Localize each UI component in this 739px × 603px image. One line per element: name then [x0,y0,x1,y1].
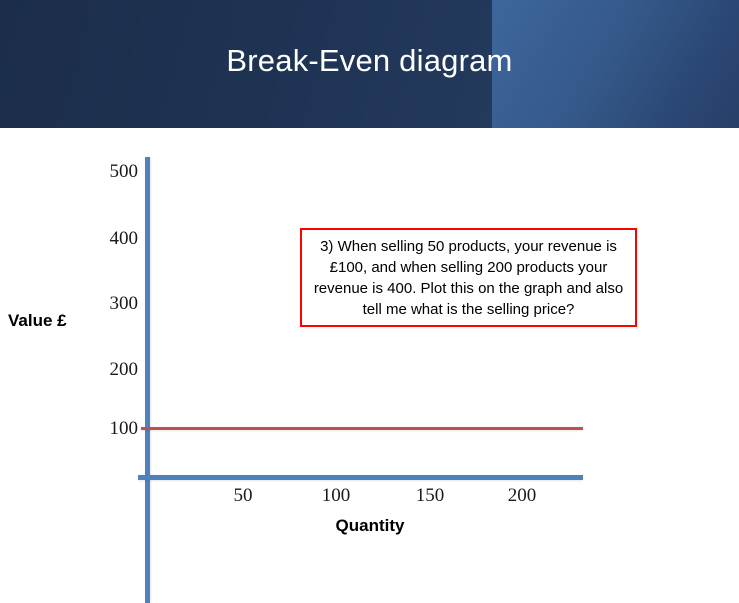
y-tick-label-500: 500 [82,161,138,183]
break-even-chart: 500 400 300 200 100 50 100 150 200 Value… [0,128,739,553]
y-tick-label-100: 100 [82,418,138,440]
x-tick-label-50: 50 [213,485,273,507]
y-axis-line [145,157,150,603]
y-axis-title: Value £ [8,310,128,332]
y-tick-label-400: 400 [82,228,138,250]
page-title: Break-Even diagram [0,42,739,80]
x-tick-label-150: 150 [400,485,460,507]
question-callout-box: 3) When selling 50 products, your revenu… [300,228,637,327]
slide-header-banner: Break-Even diagram [0,0,739,128]
x-tick-label-100: 100 [306,485,366,507]
question-callout-text: 3) When selling 50 products, your revenu… [302,236,635,320]
y-tick-label-200: 200 [82,359,138,381]
x-axis-title: Quantity [300,515,440,537]
series-line-fixed-cost [141,427,583,430]
x-tick-label-200: 200 [492,485,552,507]
x-axis-line [138,475,583,480]
